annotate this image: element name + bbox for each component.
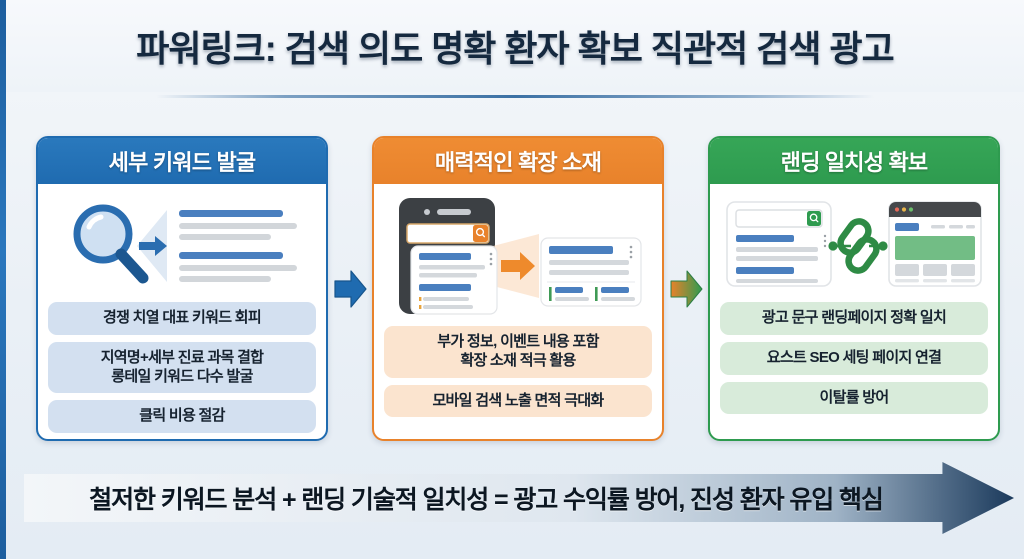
pill-item: 광고 문구 랜딩페이지 정확 일치 (720, 302, 988, 335)
cards-row: 세부 키워드 발굴 (36, 136, 1000, 441)
card-title-ad-extensions: 매력적인 확장 소재 (374, 138, 662, 184)
search-landing-link-icon (720, 192, 988, 296)
blue-right-arrow-icon (333, 268, 367, 310)
card-body-keyword-discovery: 경쟁 치열 대표 키워드 회피 지역명+세부 진료 과목 결합롱테일 키워드 다… (38, 184, 326, 441)
pill-item: 경쟁 치열 대표 키워드 회피 (48, 302, 316, 335)
card-title-landing-match: 랜딩 일치성 확보 (710, 138, 998, 184)
pill-item: 모바일 검색 노출 면적 극대화 (384, 385, 652, 418)
connector-2 (667, 136, 705, 441)
pill-item: 클릭 비용 절감 (48, 400, 316, 433)
pill-item: 요스트 SEO 세팅 페이지 연결 (720, 342, 988, 375)
pill-list-ad-extensions: 부가 정보, 이벤트 내용 포함확장 소재 적극 활용 모바일 검색 노출 면적… (384, 326, 652, 429)
infographic-page: 파워링크: 검색 의도 명확 환자 확보 직관적 검색 광고 세부 키워드 발굴 (6, 0, 1024, 559)
card-body-landing-match: 광고 문구 랜딩페이지 정확 일치 요스트 SEO 세팅 페이지 연결 이탈률 … (710, 184, 998, 439)
pill-item: 지역명+세부 진료 과목 결합롱테일 키워드 다수 발굴 (48, 342, 316, 394)
left-edge-strip (0, 0, 6, 559)
summary-banner-text: 철저한 키워드 분석 + 랜딩 기술적 일치성 = 광고 수익률 방어, 진성 … (24, 462, 1014, 534)
card-keyword-discovery[interactable]: 세부 키워드 발굴 (36, 136, 328, 441)
card-body-ad-extensions: 부가 정보, 이벤트 내용 포함확장 소재 적극 활용 모바일 검색 노출 면적… (374, 184, 662, 439)
pill-item: 이탈률 방어 (720, 382, 988, 415)
summary-banner: 철저한 키워드 분석 + 랜딩 기술적 일치성 = 광고 수익률 방어, 진성 … (24, 462, 1014, 534)
orange-green-right-arrow-icon (669, 268, 703, 310)
mobile-search-expansion-icon (384, 192, 652, 320)
page-title: 파워링크: 검색 의도 명확 환자 확보 직관적 검색 광고 (136, 20, 894, 72)
card-title-keyword-discovery: 세부 키워드 발굴 (38, 138, 326, 184)
connector-1 (331, 136, 369, 441)
magnifier-search-results-icon (48, 192, 316, 296)
pill-list-keyword-discovery: 경쟁 치열 대표 키워드 회피 지역명+세부 진료 과목 결합롱테일 키워드 다… (48, 302, 316, 433)
title-divider (156, 95, 874, 98)
card-landing-match[interactable]: 랜딩 일치성 확보 (708, 136, 1000, 441)
pill-list-landing-match: 광고 문구 랜딩페이지 정확 일치 요스트 SEO 세팅 페이지 연결 이탈률 … (720, 302, 988, 429)
pill-item: 부가 정보, 이벤트 내용 포함확장 소재 적극 활용 (384, 326, 652, 378)
title-bar: 파워링크: 검색 의도 명확 환자 확보 직관적 검색 광고 (6, 0, 1024, 92)
card-ad-extensions[interactable]: 매력적인 확장 소재 (372, 136, 664, 441)
